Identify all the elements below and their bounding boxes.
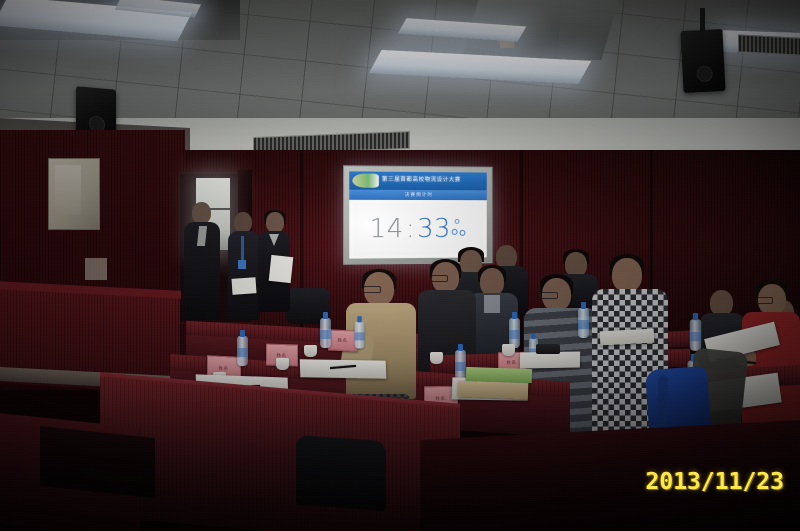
water-bottle xyxy=(355,322,365,349)
wall-notice-sign xyxy=(85,258,107,280)
speaker-cone xyxy=(696,65,713,82)
glasses-icon xyxy=(431,275,448,282)
head xyxy=(266,212,284,233)
paper-stack xyxy=(600,329,655,346)
competition-logo-icon xyxy=(352,173,378,187)
water-bottle xyxy=(237,336,248,366)
countdown-timer: 14 : 33 xyxy=(369,214,467,244)
name-card-text: 姓名 xyxy=(436,395,446,401)
head xyxy=(192,202,211,224)
water-bottle xyxy=(690,319,702,351)
glasses-icon xyxy=(756,297,773,304)
standing-person-papers xyxy=(258,212,290,312)
shirt-front xyxy=(484,295,500,313)
tea-cup xyxy=(304,345,317,357)
slide-sub-banner: 决赛倒计时 xyxy=(349,190,487,201)
timer-minutes: 14 xyxy=(369,214,403,244)
glasses-icon xyxy=(363,286,381,293)
name-card-text: 姓名 xyxy=(219,365,229,372)
name-card-text: 姓名 xyxy=(507,359,517,365)
lanyard-strap xyxy=(241,236,244,262)
camera-timestamp: 2013/11/23 xyxy=(646,469,784,495)
conference-room-photo: 第三届首都高校物流设计大赛 决赛倒计时 14 : 33 xyxy=(0,0,800,531)
mobile-phone[interactable] xyxy=(536,344,560,354)
slide-header-bar: 第三届首都高校物流设计大赛 xyxy=(349,171,487,190)
tea-cup xyxy=(430,352,443,364)
foreground-chair-back xyxy=(296,435,386,511)
badge-icon xyxy=(238,260,246,269)
glasses-icon xyxy=(540,292,558,299)
tan-booklet xyxy=(458,381,529,399)
ceiling-speaker-right xyxy=(680,29,725,93)
tea-cup xyxy=(502,344,515,356)
water-bottle xyxy=(578,308,589,338)
water-bottle xyxy=(320,318,331,348)
held-papers xyxy=(231,277,256,295)
timer-seconds: 33 xyxy=(417,214,451,244)
paper-stack xyxy=(300,359,387,379)
standing-person-lanyard xyxy=(228,212,260,320)
timer-dots-decoration xyxy=(452,215,468,237)
paper-stack xyxy=(520,351,580,368)
projection-screen: 第三届首都高校物流设计大赛 决赛倒计时 14 : 33 xyxy=(349,171,487,258)
air-vent-3 xyxy=(738,34,800,55)
head xyxy=(234,212,252,233)
standing-person-suit-left xyxy=(184,202,220,320)
timer-separator: : xyxy=(406,214,415,244)
torso xyxy=(228,231,260,320)
water-bottle xyxy=(455,350,466,380)
whiteboard xyxy=(48,158,100,230)
name-card-tent: 姓名 xyxy=(328,329,358,351)
name-card-text: 姓名 xyxy=(338,337,348,344)
held-papers xyxy=(269,255,294,283)
head xyxy=(480,268,504,296)
slide-sub-banner-text: 决赛倒计时 xyxy=(405,192,433,198)
head xyxy=(612,258,642,292)
tea-cup xyxy=(276,358,289,370)
slide-header-title: 第三届首都高校物流设计大赛 xyxy=(382,175,484,184)
foreground-bench-shadow xyxy=(40,426,155,498)
